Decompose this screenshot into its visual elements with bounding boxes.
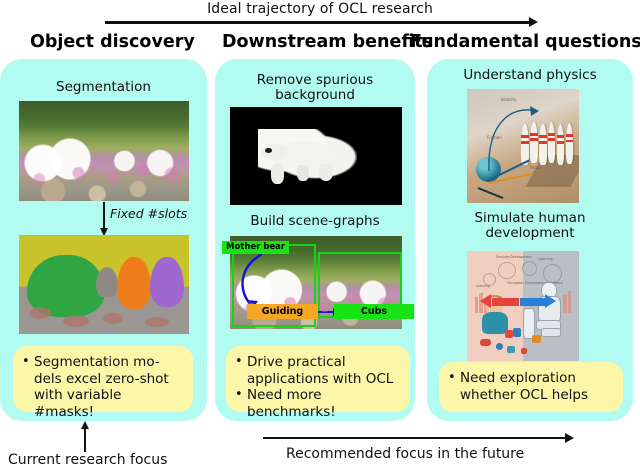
note-list-downstream-benefits: Drive practical applications with OCL Ne… bbox=[235, 354, 400, 420]
mask-blob-small-bear bbox=[96, 267, 118, 297]
panel-object-discovery: Segmentation Fixed #slots Segmentation m… bbox=[0, 59, 207, 421]
mask-rock-two bbox=[63, 315, 89, 327]
image-polar-bears-tundra bbox=[19, 101, 189, 201]
note-item: Drive practical applications with OCL bbox=[235, 354, 400, 387]
scene-graph-label-cubs: Cubs bbox=[334, 304, 414, 319]
note-line: Need exploration bbox=[460, 370, 576, 386]
panel-title-segmentation: Segmentation bbox=[0, 80, 207, 95]
toy-block bbox=[480, 339, 490, 346]
arrow-red-left bbox=[492, 298, 519, 306]
bowling-trajectory-arc bbox=[467, 89, 579, 203]
panel-fundamental-questions: Understand physics Velocity Friction For… bbox=[427, 59, 633, 421]
arrow-red-head-icon bbox=[480, 294, 491, 308]
scene-graph-label-mother-bear: Mother bear bbox=[222, 241, 289, 254]
toy-block bbox=[521, 348, 528, 355]
mask-rock-four bbox=[145, 317, 169, 327]
toy-block bbox=[505, 330, 513, 338]
decor-ring bbox=[522, 261, 537, 276]
column-header-downstream-benefits: Downstream benefits bbox=[222, 32, 433, 52]
panel-title-remove-spurious-background: Remove spurious background bbox=[215, 73, 415, 103]
bear-leg-rear bbox=[319, 164, 333, 182]
decor-text: Learning bbox=[476, 284, 490, 288]
note-line: whether OCL helps bbox=[460, 387, 613, 404]
current-focus-arrow-head-icon bbox=[81, 421, 89, 429]
panel-title-build-scene-graphs: Build scene-graphs bbox=[215, 214, 415, 229]
toy-block bbox=[513, 328, 521, 337]
fixed-slots-label: Fixed #slots bbox=[110, 206, 187, 221]
note-item: Segmentation mo- dels excel zero-shot wi… bbox=[22, 354, 183, 420]
note-list-object-discovery: Segmentation mo- dels excel zero-shot wi… bbox=[22, 354, 183, 420]
top-arrow-head-icon bbox=[529, 17, 538, 27]
decor-text: Emulate Development bbox=[496, 255, 532, 259]
decor-bar-chart bbox=[568, 291, 571, 313]
note-list-fundamental-questions: Need exploration whether OCL helps bbox=[448, 370, 613, 403]
decor-ring bbox=[498, 262, 516, 279]
arrow-blue-right bbox=[520, 298, 547, 306]
future-focus-arrow-shaft bbox=[263, 437, 566, 439]
caption-current-research-focus: Current research focus bbox=[8, 452, 167, 468]
bowling-vector-annotation: Velocity bbox=[501, 97, 517, 102]
scene-graph-label-guiding: Guiding bbox=[247, 304, 318, 319]
note-downstream-benefits: Drive practical applications with OCL Ne… bbox=[226, 346, 410, 412]
note-fundamental-questions: Need exploration whether OCL helps bbox=[439, 362, 623, 412]
panel-title-simulate-human-development: Simulate human development bbox=[427, 211, 633, 241]
decor-bar-chart bbox=[475, 297, 478, 312]
note-line: with variable #masks! bbox=[34, 387, 183, 420]
panel-title-understand-physics: Understand physics bbox=[427, 68, 633, 83]
robot-leg bbox=[541, 328, 561, 337]
note-line: applications with OCL bbox=[247, 371, 400, 388]
fixed-slots-arrow-shaft bbox=[103, 202, 105, 230]
image-segmentation-mask bbox=[19, 235, 189, 334]
arrow-blue-head-icon bbox=[545, 294, 556, 308]
mask-rock-three bbox=[103, 313, 123, 324]
current-focus-arrow-shaft bbox=[84, 428, 86, 452]
toy-block bbox=[532, 335, 541, 344]
note-item: Need exploration whether OCL helps bbox=[448, 370, 613, 403]
bowling-vector-annotation: Force bbox=[530, 165, 541, 170]
decor-text: Learning bbox=[539, 257, 553, 261]
figure-canvas: Ideal trajectory of OCL research Object … bbox=[0, 0, 640, 471]
image-bowling-physics: Velocity Friction Force bbox=[467, 89, 579, 203]
note-object-discovery: Segmentation mo- dels excel zero-shot wi… bbox=[13, 346, 193, 412]
bowling-vector-annotation: Friction bbox=[487, 135, 502, 140]
note-line: dels excel zero-shot bbox=[34, 371, 183, 388]
bear-leg-front bbox=[271, 164, 284, 184]
toy-block bbox=[496, 343, 503, 350]
note-line: Need more benchmarks! bbox=[247, 387, 336, 420]
mask-blob-cub-two bbox=[150, 257, 184, 307]
mask-blob-cub-one bbox=[117, 257, 151, 309]
column-header-fundamental-questions: Fundamental questions bbox=[410, 32, 640, 52]
future-focus-arrow-head-icon bbox=[565, 433, 574, 443]
bear-leg-mid bbox=[297, 165, 309, 181]
note-item: Need more benchmarks! bbox=[235, 387, 400, 420]
mask-rock-one bbox=[29, 307, 51, 319]
toy-block bbox=[507, 346, 515, 354]
column-header-object-discovery: Object discovery bbox=[30, 32, 195, 52]
top-arrow-shaft bbox=[105, 21, 530, 24]
panel-downstream-benefits: Remove spurious background Build scene-g… bbox=[215, 59, 415, 421]
image-baby-robot-development: Emulate Development Learning Learning Pe… bbox=[467, 251, 579, 361]
decor-bar-chart bbox=[563, 295, 566, 313]
bear-cutout bbox=[258, 129, 358, 188]
note-line: Drive practical bbox=[247, 354, 346, 370]
top-arrow-caption: Ideal trajectory of OCL research bbox=[0, 1, 640, 17]
caption-recommended-focus: Recommended focus in the future bbox=[286, 446, 524, 462]
image-bear-black-background bbox=[230, 107, 402, 205]
note-line: Segmentation mo- bbox=[34, 354, 160, 370]
